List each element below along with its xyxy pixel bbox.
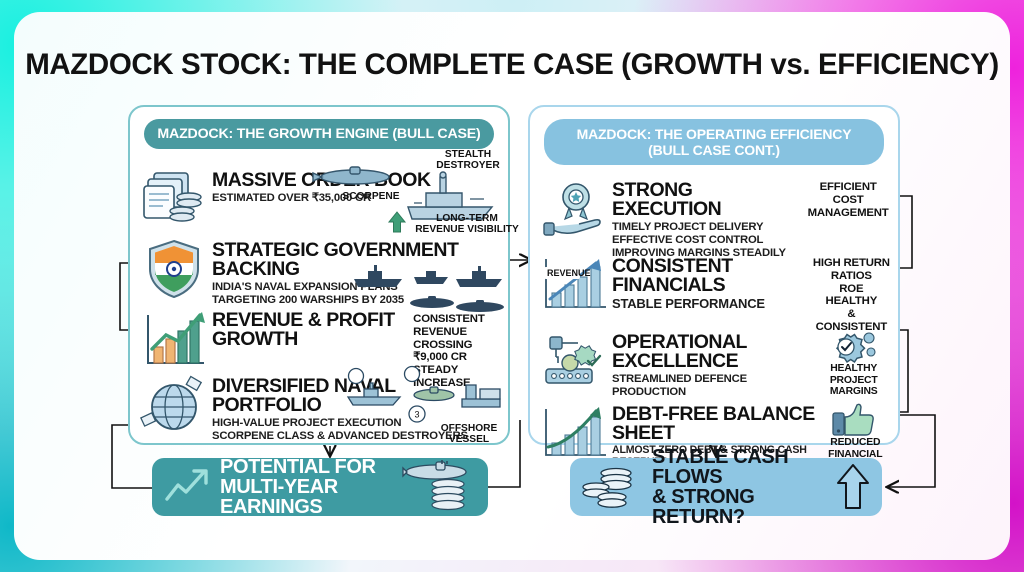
right-footer-callout[interactable]: STABLE CASH FLOWS & STRONG RETURN? (570, 458, 882, 516)
note-with-icon: HEALTHY PROJECT MARGINS (817, 331, 890, 398)
documents-and-coins-icon (140, 169, 212, 231)
item-note: EFFICIENT COST MANAGEMENT (806, 179, 890, 219)
revenue-chart-icon: REVENUE (540, 255, 612, 317)
growth-bar-chart-icon (140, 309, 212, 371)
globe-satellite-icon (140, 375, 212, 437)
submarine-and-coins-icon (402, 460, 476, 514)
thumbs-up-icon (831, 403, 879, 437)
coin-stacks-icon (582, 463, 644, 511)
item-text: REVENUE & PROFIT GROWTH (212, 309, 413, 349)
list-item[interactable]: REVENUE CONSISTENT FINANCIALS STABLE PER… (540, 255, 890, 334)
item-heading: OPERATIONAL EXCELLENCE (612, 333, 817, 371)
operating-efficiency-panel: MAZDOCK: THE OPERATING EFFICIENCY (BULL … (528, 105, 900, 445)
portfolio-vessel-icons (346, 369, 506, 415)
item-subtext: STREAMLINED DEFENCE PRODUCTION (612, 373, 817, 398)
item-note: HEALTHY PROJECT MARGINS (817, 363, 890, 398)
bar-growth-arrow-icon (540, 403, 612, 465)
list-item[interactable]: OPERATIONAL EXCELLENCE STREAMLINED DEFEN… (540, 331, 890, 399)
growth-engine-panel: MAZDOCK: THE GROWTH ENGINE (BULL CASE) M… (128, 105, 510, 445)
badge-number-3-icon: 3 (408, 405, 426, 423)
label-long-term-revenue-visibility: LONG-TERM REVENUE VISIBILITY (412, 213, 522, 235)
left-panel-header: MAZDOCK: THE GROWTH ENGINE (BULL CASE) (144, 119, 494, 149)
left-footer-callout[interactable]: POTENTIAL FOR MULTI-YEAR EARNINGS (152, 458, 488, 516)
award-in-hand-icon (540, 179, 612, 241)
item-note: HIGH RETURN RATIOS ROE HEALTHY & CONSIST… (813, 255, 890, 334)
label-offshore-vessel: OFFSHORE VESSEL (432, 423, 506, 445)
chart-label: REVENUE (547, 268, 591, 278)
item-subtext: STABLE PERFORMANCE (612, 297, 813, 312)
item-text: CONSISTENT FINANCIALS STABLE PERFORMANCE (612, 255, 813, 312)
left-panel-items: MASSIVE ORDER BOOK ESTIMATED OVER ₹35,00… (130, 167, 508, 439)
right-panel-items: STRONG EXECUTION TIMELY PROJECT DELIVERY… (530, 179, 898, 439)
list-item[interactable]: STRONG EXECUTION TIMELY PROJECT DELIVERY… (540, 179, 890, 259)
footer-text: STABLE CASH FLOWS & STRONG RETURN? (652, 447, 828, 527)
item-heading: REVENUE & PROFIT GROWTH (212, 311, 413, 349)
item-text: STRONG EXECUTION TIMELY PROJECT DELIVERY… (612, 179, 806, 259)
right-panel-header: MAZDOCK: THE OPERATING EFFICIENCY (BULL … (544, 119, 884, 165)
svg-text:3: 3 (414, 410, 419, 420)
item-subtext: TIMELY PROJECT DELIVERY EFFECTIVE COST C… (612, 221, 806, 259)
factory-check-icon (540, 331, 612, 393)
label-stealth-destroyer: STEALTH DESTROYER (432, 149, 504, 171)
green-up-arrow-icon (388, 211, 406, 233)
item-heading: STRONG EXECUTION (612, 181, 806, 219)
item-heading: CONSISTENT FINANCIALS (612, 257, 813, 295)
footer-text: POTENTIAL FOR MULTI-YEAR EARNINGS (220, 457, 394, 517)
label-scorpene: SCORPENE (336, 191, 406, 202)
item-text: OPERATIONAL EXCELLENCE STREAMLINED DEFEN… (612, 331, 817, 399)
upward-arrow-icon (164, 467, 212, 507)
page-title: MAZDOCK STOCK: THE COMPLETE CASE (GROWTH… (0, 48, 1024, 82)
gear-check-icon (826, 331, 882, 363)
india-flag-shield-icon (140, 239, 212, 301)
item-heading: DEBT-FREE BALANCE SHEET (612, 405, 821, 443)
up-arrow-outline-icon (836, 463, 870, 511)
